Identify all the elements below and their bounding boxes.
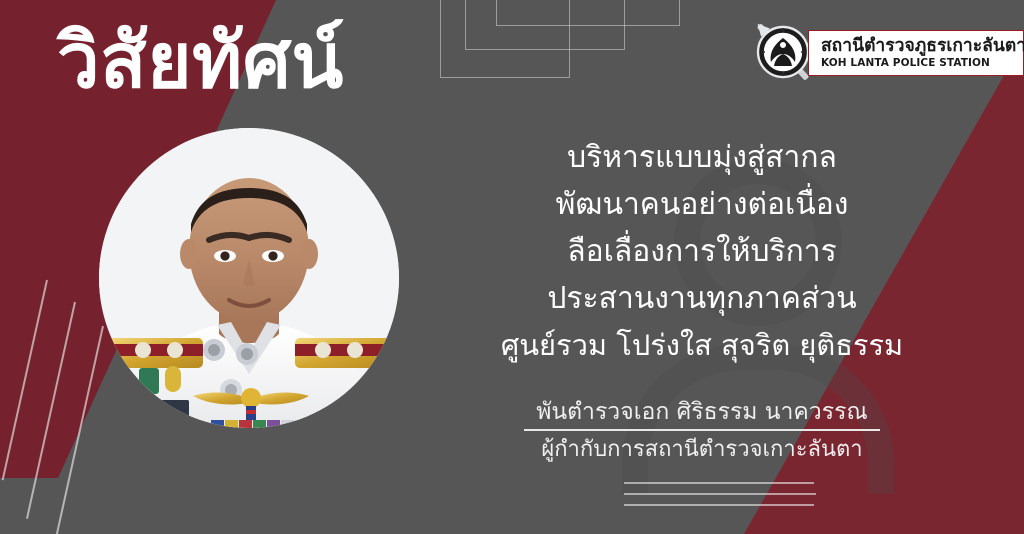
horizontal-line-3 [624,504,814,506]
vision-line-2: พัฒนาคนอย่างต่อเนื่อง [456,181,948,228]
station-logo-lockup[interactable]: สถานีตำรวจภูธรเกาะลันตา KOH LANTA POLICE… [745,14,1024,90]
horizontal-line-2 [624,493,816,495]
page-title: วิสัยทัศน์ [57,13,344,108]
signature-block: พันตำรวจเอก ศิริธรรม นาควรรณ ผู้กำกับการ… [456,396,948,465]
vision-line-5: ศูนย์รวม โปร่งใส สุจริต ยุติธรรม [456,322,948,369]
horizontal-line-1 [624,482,814,484]
station-name-th: สถานีตำรวจภูธรเกาะลันตา [821,37,1015,57]
vision-line-1: บริหารแบบมุ่งสู่สากล [456,134,948,181]
vision-line-3: ลือเลื่องการให้บริการ [456,228,948,275]
officer-role: ผู้กำกับการสถานีตำรวจเกาะลันตา [456,434,948,465]
vision-statement: บริหารแบบมุ่งสู่สากล พัฒนาคนอย่างต่อเนื่… [456,134,948,369]
officer-portrait [99,128,399,428]
vision-line-4: ประสานงานทุกภาคส่วน [456,275,948,322]
station-name-en: KOH LANTA POLICE STATION [821,57,1015,69]
decor-rectangle-3 [496,0,680,26]
station-name-banner: สถานีตำรวจภูธรเกาะลันตา KOH LANTA POLICE… [808,30,1024,76]
signature-divider [524,429,880,431]
officer-name: พันตำรวจเอก ศิริธรรม นาควรรณ [456,396,948,428]
vision-banner: วิสัยทัศน์ [0,0,1024,534]
